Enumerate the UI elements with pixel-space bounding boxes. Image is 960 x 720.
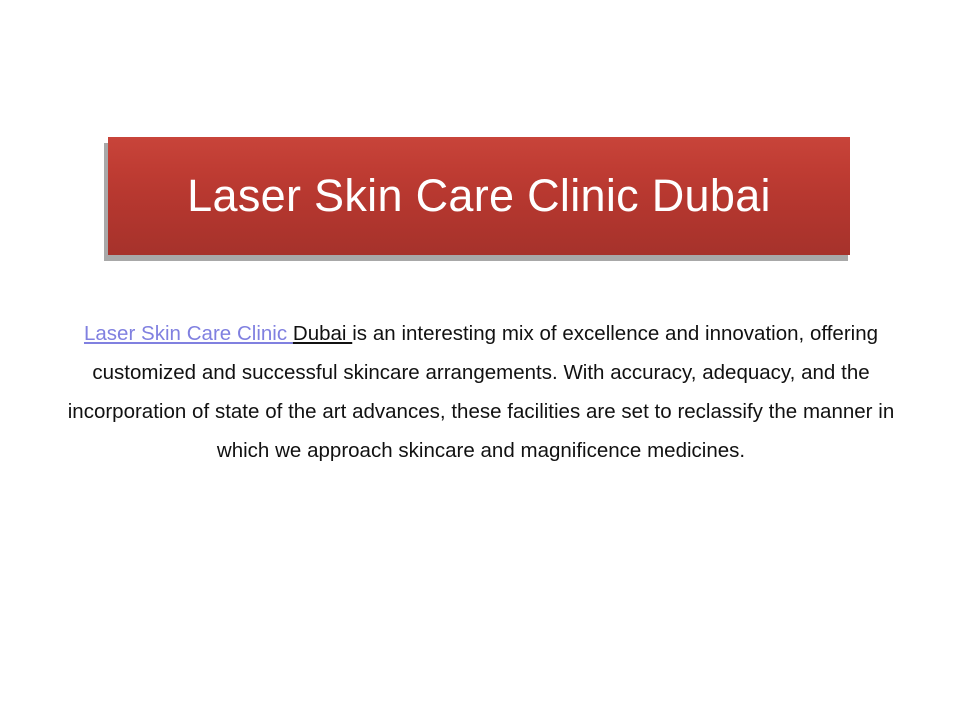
body-paragraph: Laser Skin Care Clinic Dubai is an inter… xyxy=(62,314,900,470)
body-text-block: Laser Skin Care Clinic Dubai is an inter… xyxy=(62,314,900,470)
slide-title: Laser Skin Care Clinic Dubai xyxy=(187,171,771,221)
presentation-slide: Laser Skin Care Clinic Dubai Laser Skin … xyxy=(0,0,960,720)
title-banner: Laser Skin Care Clinic Dubai xyxy=(108,137,850,255)
title-banner-container: Laser Skin Care Clinic Dubai xyxy=(108,137,850,255)
link-dubai[interactable]: Dubai xyxy=(293,322,352,345)
link-laser-skin-care-clinic[interactable]: Laser Skin Care Clinic xyxy=(84,322,293,345)
